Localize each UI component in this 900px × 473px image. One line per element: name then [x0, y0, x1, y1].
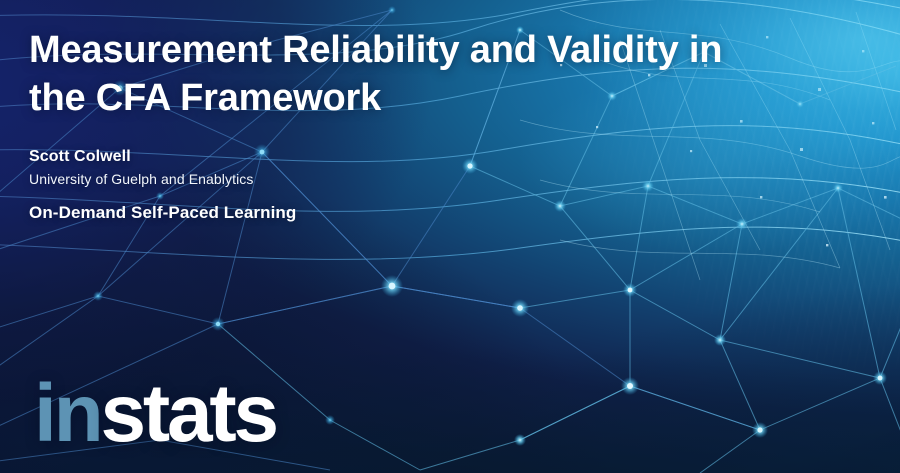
- slide-content: Measurement Reliability and Validity in …: [0, 0, 900, 473]
- title-slide: Measurement Reliability and Validity in …: [0, 0, 900, 473]
- course-format-label: On-Demand Self-Paced Learning: [29, 203, 296, 223]
- slide-title: Measurement Reliability and Validity in …: [29, 26, 789, 122]
- logo-text-in: in: [34, 368, 100, 459]
- presenter-name: Scott Colwell: [29, 148, 131, 166]
- logo-text-stats: stats: [100, 368, 275, 459]
- presenter-affiliation: University of Guelph and Enablytics: [29, 171, 254, 187]
- instats-logo: instats: [34, 373, 276, 455]
